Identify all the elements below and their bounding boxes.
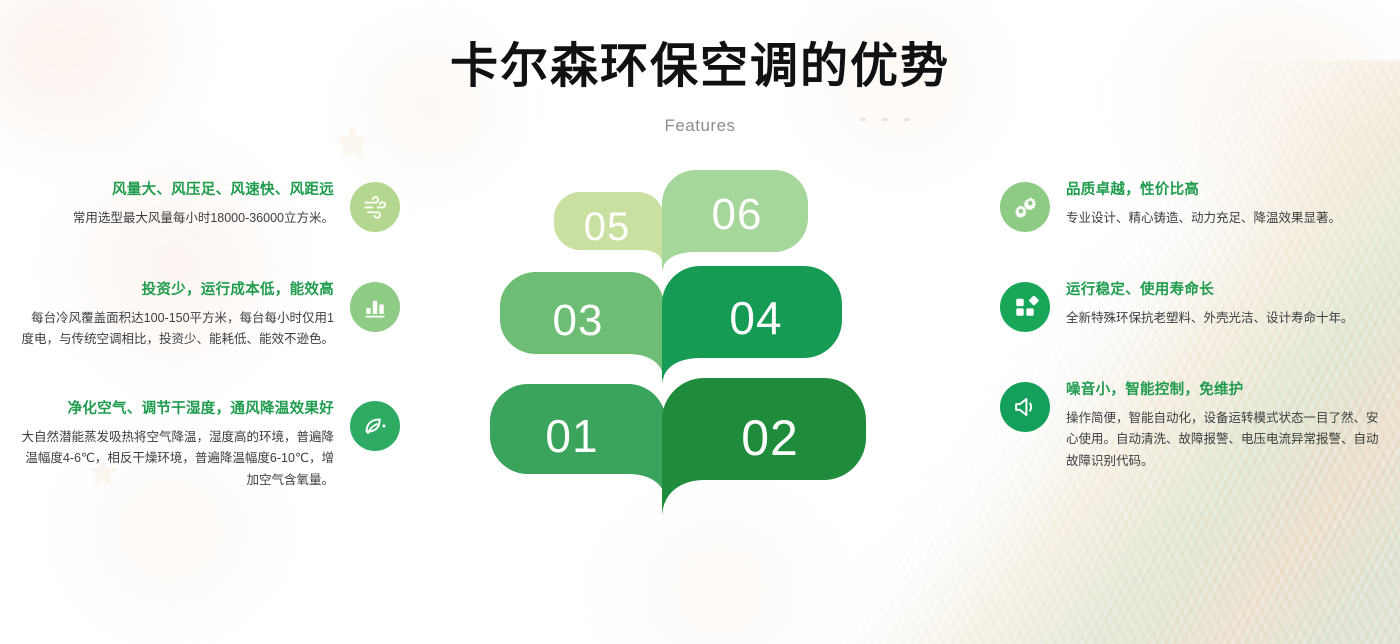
feature-text: 投资少，运行成本低，能效高 每台冷风覆盖面积达100-150平方米，每台每小时仅… bbox=[20, 280, 350, 351]
leaf-number-01: 01 bbox=[484, 376, 660, 496]
features-column-right: 品质卓越，性价比高 专业设计、精心铸造、动力充足、降温效果显著。 运行稳定、使用… bbox=[1000, 180, 1380, 472]
feature-text: 净化空气、调节干湿度，通风降温效果好 大自然潜能蒸发吸热将空气降温，湿度高的环境… bbox=[20, 399, 350, 491]
feature-description: 大自然潜能蒸发吸热将空气降温，湿度高的环境，普遍降温幅度4-6℃，相反干燥环境，… bbox=[20, 427, 334, 492]
leaf-number-03: 03 bbox=[496, 266, 660, 376]
feature-description: 每台冷风覆盖面积达100-150平方米，每台每小时仅用1度电，与传统空调相比，投… bbox=[20, 308, 334, 351]
leaf-number-02: 02 bbox=[668, 368, 872, 508]
leaf-tree-graphic: 05 06 03 04 01 bbox=[490, 168, 910, 558]
blocks-icon bbox=[1000, 282, 1050, 332]
leaf-number-05: 05 bbox=[552, 187, 662, 267]
wind-icon bbox=[350, 182, 400, 232]
feature-text: 风量大、风压足、风速快、风距远 常用选型最大风量每小时18000-36000立方… bbox=[20, 180, 350, 229]
feature-text: 品质卓越，性价比高 专业设计、精心铸造、动力充足、降温效果显著。 bbox=[1050, 180, 1380, 229]
feature-title: 风量大、风压足、风速快、风距远 bbox=[20, 180, 334, 202]
feature-title: 品质卓越，性价比高 bbox=[1066, 180, 1380, 202]
features-column-left: 风量大、风压足、风速快、风距远 常用选型最大风量每小时18000-36000立方… bbox=[20, 180, 400, 491]
leaf-shape-01[interactable]: 01 bbox=[490, 384, 666, 504]
leaf-icon bbox=[350, 401, 400, 451]
feature-item[interactable]: 投资少，运行成本低，能效高 每台冷风覆盖面积达100-150平方米，每台每小时仅… bbox=[20, 280, 400, 351]
feature-item[interactable]: 噪音小，智能控制，免维护 操作简便，智能自动化，设备运转模式状态一目了然、安心使… bbox=[1000, 380, 1380, 472]
page-header: 卡尔森环保空调的优势 Features bbox=[0, 38, 1400, 136]
feature-item[interactable]: 风量大、风压足、风速快、风距远 常用选型最大风量每小时18000-36000立方… bbox=[20, 180, 400, 232]
bar-chart-icon bbox=[350, 282, 400, 332]
feature-text: 噪音小，智能控制，免维护 操作简便，智能自动化，设备运转模式状态一目了然、安心使… bbox=[1050, 380, 1380, 472]
feature-item[interactable]: 品质卓越，性价比高 专业设计、精心铸造、动力充足、降温效果显著。 bbox=[1000, 180, 1380, 232]
gears-icon bbox=[1000, 182, 1050, 232]
feature-description: 常用选型最大风量每小时18000-36000立方米。 bbox=[20, 208, 334, 230]
leaf-number-06: 06 bbox=[664, 163, 810, 267]
leaf-shape-05[interactable]: 05 bbox=[554, 192, 664, 272]
feature-description: 操作简便，智能自动化，设备运转模式状态一目了然、安心使用。自动清洗、故障报警、电… bbox=[1066, 408, 1380, 473]
feature-title: 运行稳定、使用寿命长 bbox=[1066, 280, 1380, 302]
leaf-shape-02[interactable]: 02 bbox=[662, 378, 866, 518]
feature-description: 全新特殊环保抗老塑料、外壳光洁、设计寿命十年。 bbox=[1066, 308, 1380, 330]
feature-title: 净化空气、调节干湿度，通风降温效果好 bbox=[20, 399, 334, 421]
feature-description: 专业设计、精心铸造、动力充足、降温效果显著。 bbox=[1066, 208, 1380, 230]
feature-text: 运行稳定、使用寿命长 全新特殊环保抗老塑料、外壳光洁、设计寿命十年。 bbox=[1050, 280, 1380, 329]
feature-item[interactable]: 净化空气、调节干湿度，通风降温效果好 大自然潜能蒸发吸热将空气降温，湿度高的环境… bbox=[20, 399, 400, 491]
leaf-shape-03[interactable]: 03 bbox=[500, 272, 664, 382]
leaf-number-04: 04 bbox=[666, 258, 846, 378]
page-subtitle: Features bbox=[0, 116, 1400, 136]
feature-title: 投资少，运行成本低，能效高 bbox=[20, 280, 334, 302]
speaker-icon bbox=[1000, 382, 1050, 432]
page-title: 卡尔森环保空调的优势 bbox=[0, 38, 1400, 96]
feature-item[interactable]: 运行稳定、使用寿命长 全新特殊环保抗老塑料、外壳光洁、设计寿命十年。 bbox=[1000, 280, 1380, 332]
feature-title: 噪音小，智能控制，免维护 bbox=[1066, 380, 1380, 402]
